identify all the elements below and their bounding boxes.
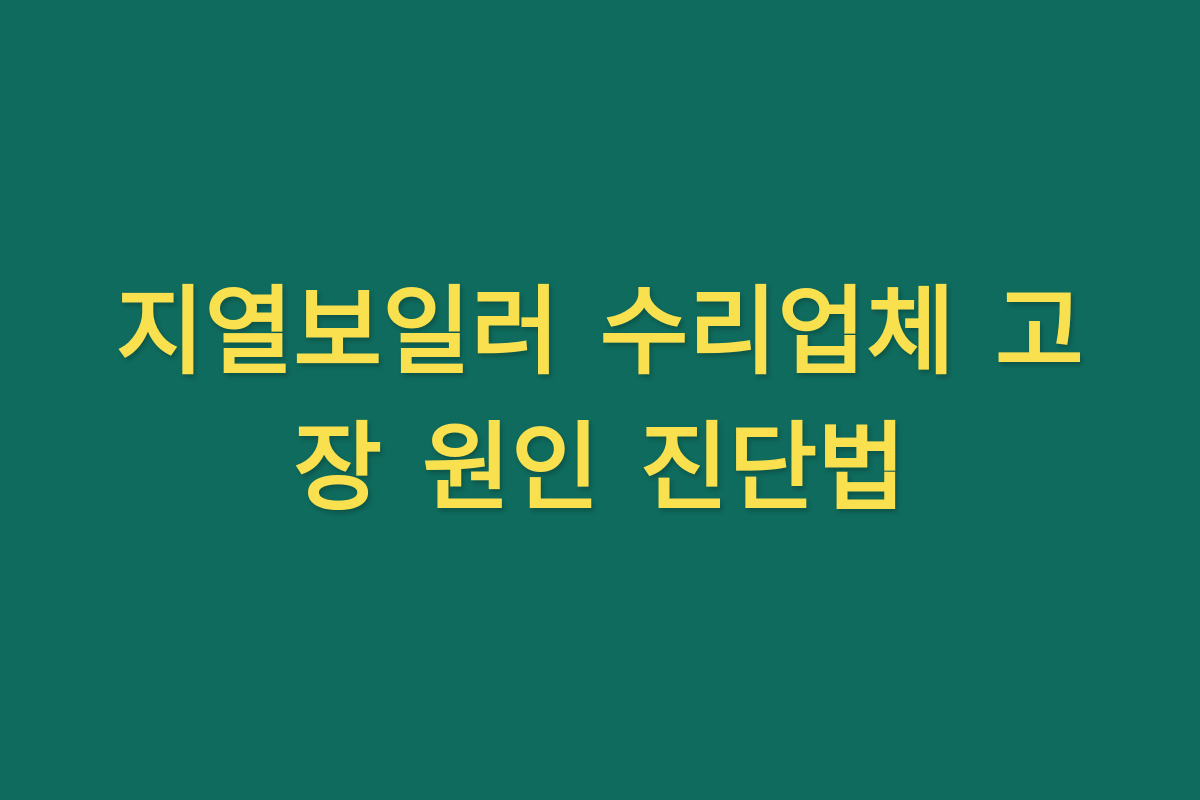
title-card: 지열보일러 수리업체 고 장 원인 진단법 (0, 0, 1200, 800)
page-title: 지열보일러 수리업체 고 장 원인 진단법 (95, 264, 1105, 537)
